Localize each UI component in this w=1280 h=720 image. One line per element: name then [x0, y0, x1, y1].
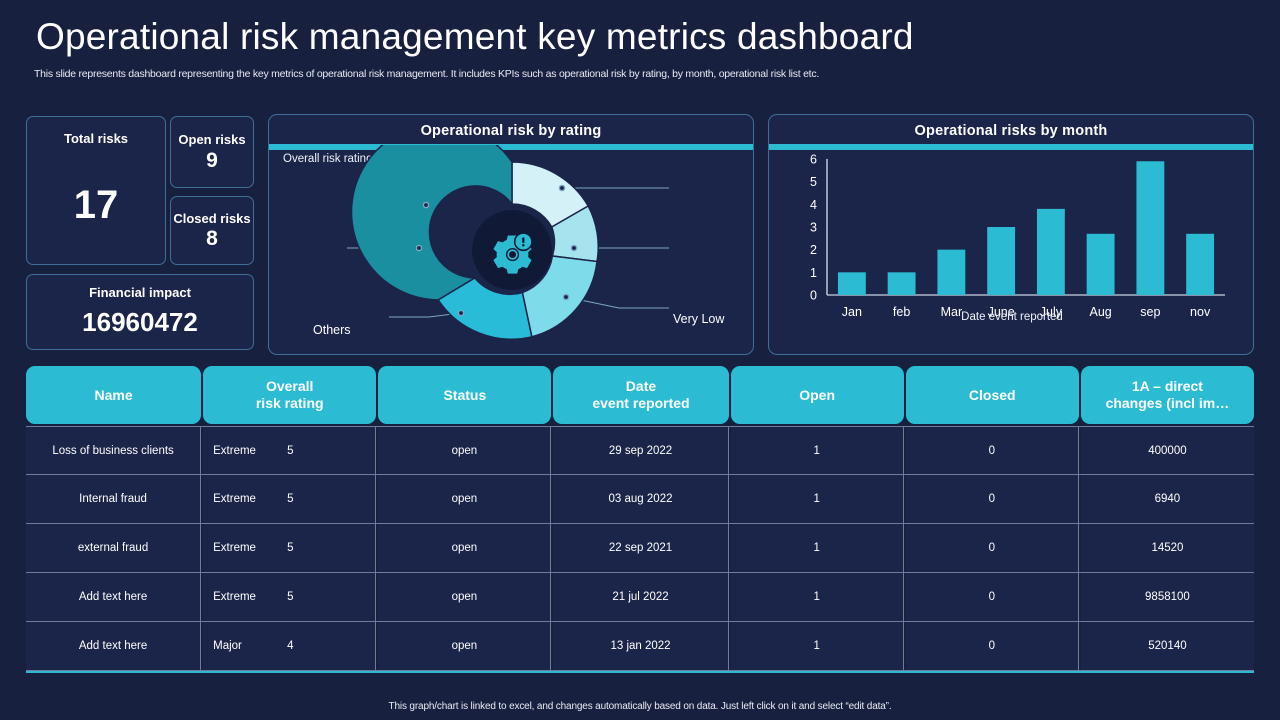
rating-score: 5 — [287, 493, 293, 505]
cell-open: 1 — [731, 573, 904, 621]
cell-overall-risk-rating: Major4 — [203, 622, 376, 670]
bar-chart-bar[interactable] — [937, 250, 965, 295]
cell-date-event-reported: 29 sep 2022 — [553, 427, 728, 474]
cell-direct-changes: 6940 — [1081, 475, 1254, 523]
bar-chart-y-tick: 6 — [810, 153, 817, 167]
bar-chart-y-tick-labels: 0123456 — [810, 153, 817, 303]
rating-score: 5 — [287, 445, 293, 457]
kpi-value-total-risks: 17 — [74, 183, 119, 228]
bar-chart-bar[interactable] — [838, 272, 866, 295]
cell-name: Internal fraud — [26, 475, 201, 523]
page-subtitle: This slide represents dashboard represen… — [34, 68, 1244, 80]
bar-chart-bar[interactable] — [987, 227, 1015, 295]
rating-score: 5 — [287, 591, 293, 603]
bar-chart-y-tick: 1 — [810, 266, 817, 280]
cell-direct-changes: 14520 — [1081, 524, 1254, 572]
kpi-value-closed-risks: 8 — [206, 228, 218, 249]
cell-closed: 0 — [906, 427, 1079, 474]
table-header-cell[interactable]: Name — [26, 366, 201, 424]
bar-chart-y-tick: 5 — [810, 175, 817, 189]
rating-score: 4 — [287, 640, 293, 652]
bar-chart-y-tick: 2 — [810, 243, 817, 257]
kpi-label-financial-impact: Financial impact — [89, 286, 191, 301]
cell-overall-risk-rating: Extreme5 — [203, 524, 376, 572]
donut-label-others: Others — [313, 323, 351, 337]
cell-name: Add text here — [26, 622, 201, 670]
risk-table: NameOverallrisk ratingStatusDateevent re… — [26, 366, 1254, 673]
cell-overall-risk-rating: Extreme5 — [203, 427, 376, 474]
bar-chart-bars — [838, 161, 1214, 295]
bar-chart-y-tick: 3 — [810, 221, 817, 235]
cell-name: external fraud — [26, 524, 201, 572]
cell-date-event-reported: 13 jan 2022 — [553, 622, 728, 670]
bar-chart-bar[interactable] — [1186, 234, 1214, 295]
page-title: Operational risk management key metrics … — [36, 16, 914, 58]
rating-label: Extreme — [213, 445, 256, 457]
cell-closed: 0 — [906, 622, 1079, 670]
cell-status: open — [378, 475, 551, 523]
kpi-value-open-risks: 9 — [206, 150, 218, 171]
cell-open: 1 — [731, 475, 904, 523]
panel-risks-by-month: Operational risks by month 0123456 Janfe… — [768, 114, 1254, 355]
cell-status: open — [378, 622, 551, 670]
donut-chart[interactable]: Very Low Low Moderate Major Extreme Othe… — [269, 145, 754, 355]
table-header-cell[interactable]: Open — [731, 366, 904, 424]
cell-closed: 0 — [906, 475, 1079, 523]
cell-overall-risk-rating: Extreme5 — [203, 475, 376, 523]
cell-name: Loss of business clients — [26, 427, 201, 474]
cell-closed: 0 — [906, 524, 1079, 572]
cell-direct-changes: 400000 — [1081, 427, 1254, 474]
table-header-cell[interactable]: Status — [378, 366, 551, 424]
cell-direct-changes: 9858100 — [1081, 573, 1254, 621]
cell-date-event-reported: 03 aug 2022 — [553, 475, 728, 523]
bar-chart-y-tick: 4 — [810, 198, 817, 212]
cell-date-event-reported: 21 jul 2022 — [553, 573, 728, 621]
footer-note: This graph/chart is linked to excel, and… — [0, 701, 1280, 712]
panel-title-risk-by-rating: Operational risk by rating — [269, 115, 753, 139]
rating-label: Major — [213, 640, 242, 652]
bar-axis-caption: Date event reported — [769, 311, 1254, 323]
bar-chart-bar[interactable] — [1087, 234, 1115, 295]
rating-label: Extreme — [213, 591, 256, 603]
cell-open: 1 — [731, 427, 904, 474]
cell-closed: 0 — [906, 573, 1079, 621]
table-header-cell[interactable]: Closed — [906, 366, 1079, 424]
cell-status: open — [378, 524, 551, 572]
donut-label-very-low: Very Low — [673, 312, 724, 326]
table-header-row: NameOverallrisk ratingStatusDateevent re… — [26, 366, 1254, 424]
panel-title-risks-by-month: Operational risks by month — [769, 115, 1253, 139]
bar-chart-bar[interactable] — [1037, 209, 1065, 295]
bar-chart-bar[interactable] — [888, 272, 916, 295]
cell-date-event-reported: 22 sep 2021 — [553, 524, 728, 572]
cell-open: 1 — [731, 622, 904, 670]
cell-status: open — [378, 427, 551, 474]
bar-chart-bar[interactable] — [1136, 161, 1164, 295]
table-row[interactable]: Loss of business clientsExtreme5open29 s… — [26, 426, 1254, 475]
table-header-cell[interactable]: 1A – directchanges (incl im… — [1081, 366, 1254, 424]
kpi-card-open-risks: Open risks 9 — [170, 116, 254, 188]
table-row[interactable]: external fraudExtreme5open22 sep 2021101… — [26, 524, 1254, 573]
dashboard-slide: Operational risk management key metrics … — [0, 0, 1280, 720]
kpi-label-open-risks: Open risks — [178, 133, 245, 148]
table-header-cell[interactable]: Dateevent reported — [553, 366, 728, 424]
kpi-value-financial-impact: 16960472 — [82, 307, 198, 338]
table-header-cell[interactable]: Overallrisk rating — [203, 366, 376, 424]
cell-name: Add text here — [26, 573, 201, 621]
kpi-label-total-risks: Total risks — [64, 132, 128, 147]
kpi-card-closed-risks: Closed risks 8 — [170, 196, 254, 265]
kpi-label-closed-risks: Closed risks — [173, 212, 250, 227]
cell-direct-changes: 520140 — [1081, 622, 1254, 670]
table-body: Loss of business clientsExtreme5open29 s… — [26, 426, 1254, 673]
kpi-card-total-risks: Total risks 17 — [26, 116, 166, 265]
kpi-card-financial-impact: Financial impact 16960472 — [26, 274, 254, 350]
table-row[interactable]: Internal fraudExtreme5open03 aug 2022106… — [26, 475, 1254, 524]
rating-score: 5 — [287, 542, 293, 554]
table-row[interactable]: Add text hereExtreme5open21 jul 20221098… — [26, 573, 1254, 622]
table-row[interactable]: Add text hereMajor4open13 jan 2022105201… — [26, 622, 1254, 671]
cell-open: 1 — [731, 524, 904, 572]
rating-label: Extreme — [213, 493, 256, 505]
cell-overall-risk-rating: Extreme5 — [203, 573, 376, 621]
bar-chart-y-tick: 0 — [810, 289, 817, 303]
panel-risk-by-rating: Operational risk by rating Overall risk … — [268, 114, 754, 355]
rating-label: Extreme — [213, 542, 256, 554]
cell-status: open — [378, 573, 551, 621]
